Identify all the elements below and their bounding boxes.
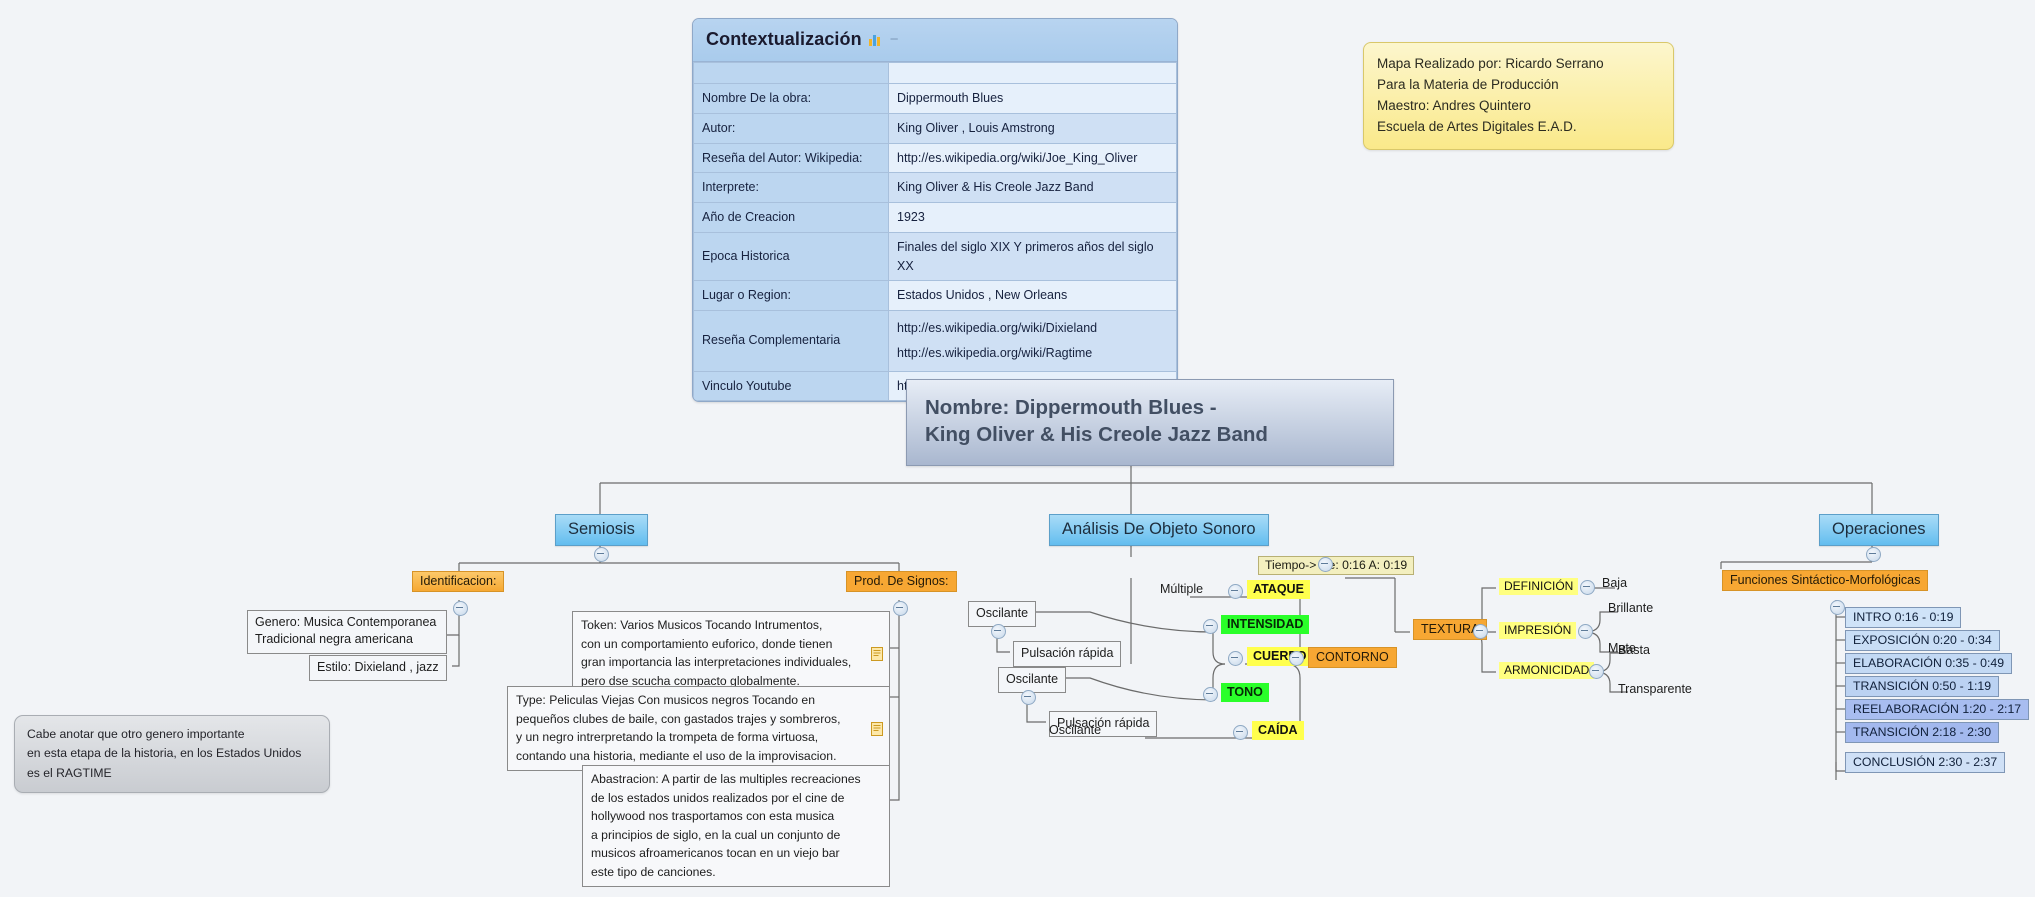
collapse-icon-caida[interactable] xyxy=(1233,725,1248,740)
node-token-line-2: con un comportamiento euforico, donde ti… xyxy=(581,635,881,654)
node-tono[interactable]: TONO xyxy=(1221,683,1269,702)
node-abstraccion-line-3: hollywood nos trasportamos con esta musi… xyxy=(591,807,881,826)
node-caida-oscilante[interactable]: Oscilante xyxy=(1049,723,1101,737)
node-multiple[interactable]: Múltiple xyxy=(1160,582,1203,596)
branch-operaciones[interactable]: Operaciones xyxy=(1819,514,1939,546)
node-multiple-label: Múltiple xyxy=(1160,582,1203,596)
table-row: Nombre De la obra: Dippermouth Blues xyxy=(694,84,1177,114)
node-genero-line-1: Genero: Musica Contemporanea xyxy=(255,614,439,631)
callout-line-3: es el RAGTIME xyxy=(27,764,317,783)
central-node[interactable]: Nombre: Dippermouth Blues - King Oliver … xyxy=(906,379,1394,466)
table-cell-key: Reseña del Autor: Wikipedia: xyxy=(694,143,889,173)
branch-analisis-label: Análisis De Objeto Sonoro xyxy=(1062,520,1256,538)
table-row: Lugar o Region: Estados Unidos , New Orl… xyxy=(694,281,1177,311)
collapse-icon-operaciones[interactable] xyxy=(1866,547,1881,562)
node-abstraccion[interactable]: Abastracion: A partir de las multiples r… xyxy=(582,765,890,887)
timeline-item-label: EXPOSICIÓN 0:20 - 0:34 xyxy=(1853,633,1992,647)
callout-line-1: Cabe anotar que otro genero importante xyxy=(27,725,317,744)
node-funciones-sintactico-morfologicas[interactable]: Funciones Sintáctico-Morfológicas xyxy=(1722,570,1928,591)
note-icon xyxy=(871,647,883,661)
node-impresion-brillante[interactable]: Brillante xyxy=(1608,601,1653,615)
table-row: Epoca Historica Finales del siglo XIX Y … xyxy=(694,232,1177,281)
author-note-line-4: Escuela de Artes Digitales E.A.D. xyxy=(1377,117,1660,138)
table-cell-value: Finales del siglo XIX Y primeros años de… xyxy=(889,232,1177,281)
node-impresion[interactable]: IMPRESIÓN xyxy=(1499,622,1576,639)
node-intensidad-oscilante-label: Oscilante xyxy=(976,606,1028,620)
central-node-line-2: King Oliver & His Creole Jazz Band xyxy=(925,421,1375,448)
node-tono-label: TONO xyxy=(1227,685,1263,699)
table-cell-value: King Oliver , Louis Amstrong xyxy=(889,113,1177,143)
timeline-item-intro[interactable]: INTRO 0:16 - 0:19 xyxy=(1845,607,1961,628)
timeline-item-reelaboracion[interactable]: REELABORACIÓN 1:20 - 2:17 xyxy=(1845,699,2029,720)
node-armonicidad-label: ARMONICIDAD xyxy=(1504,663,1589,677)
table-cell-value xyxy=(889,63,1177,84)
timeline-item-conclusion[interactable]: CONCLUSIÓN 2:30 - 2:37 xyxy=(1845,752,2005,773)
node-definicion-baja[interactable]: Baja xyxy=(1602,576,1627,590)
node-armonicidad-basta-label: Basta xyxy=(1618,643,1650,657)
callout-ragtime: Cabe anotar que otro genero importante e… xyxy=(14,715,330,793)
collapse-icon-cuerpo[interactable] xyxy=(1228,651,1243,666)
node-ataque[interactable]: ATAQUE xyxy=(1247,580,1310,599)
table-cell-value-link[interactable]: http://es.wikipedia.org/wiki/Ragtime xyxy=(897,341,1168,366)
collapse-icon-funciones[interactable] xyxy=(1830,600,1845,615)
table-cell-value: 1923 xyxy=(889,203,1177,233)
node-identificacion-label: Identificacion: xyxy=(420,574,496,588)
node-genero-line-2: Tradicional negra americana xyxy=(255,631,439,648)
node-intensidad[interactable]: INTENSIDAD xyxy=(1221,615,1309,634)
callout-line-2: en esta etapa de la historia, en los Est… xyxy=(27,744,317,763)
table-cell-key: Nombre De la obra: xyxy=(694,84,889,114)
collapse-icon-tono[interactable] xyxy=(1203,687,1218,702)
node-token-line-3: gran importancia las interpretaciones in… xyxy=(581,653,881,672)
node-abstraccion-line-1: Abastracion: A partir de las multiples r… xyxy=(591,770,881,789)
table-row: Autor: King Oliver , Louis Amstrong xyxy=(694,113,1177,143)
node-abstraccion-line-5: musicos afroamericanos tocan en un viejo… xyxy=(591,844,881,863)
node-definicion-baja-label: Baja xyxy=(1602,576,1627,590)
table-cell-value-link[interactable]: http://es.wikipedia.org/wiki/Joe_King_Ol… xyxy=(889,143,1177,173)
node-type-line-2: pequeños clubes de baile, con gastados t… xyxy=(516,710,881,729)
table-cell-key: Vinculo Youtube xyxy=(694,371,889,401)
contextualizacion-title-text: Contextualización xyxy=(706,29,862,50)
branch-semiosis[interactable]: Semiosis xyxy=(555,514,648,546)
contextualizacion-table[interactable]: Contextualización − Nombre De la obra: D… xyxy=(692,18,1178,402)
node-type-line-1: Type: Peliculas Viejas Con musicos negro… xyxy=(516,691,881,710)
table-cell-value: Dippermouth Blues xyxy=(889,84,1177,114)
timeline-item-elaboracion[interactable]: ELABORACIÓN 0:35 - 0:49 xyxy=(1845,653,2012,674)
author-note-line-3: Maestro: Andres Quintero xyxy=(1377,96,1660,117)
collapse-icon-tono-oscilante[interactable] xyxy=(1021,690,1036,705)
table-cell-key: Interprete: xyxy=(694,173,889,203)
timeline-item-label: INTRO 0:16 - 0:19 xyxy=(1853,610,1953,624)
node-estilo[interactable]: Estilo: Dixieland , jazz xyxy=(309,655,447,681)
timeline-item-label: REELABORACIÓN 1:20 - 2:17 xyxy=(1853,702,2021,716)
collapse-icon-armonicidad[interactable] xyxy=(1589,664,1604,679)
central-node-line-1: Nombre: Dippermouth Blues - xyxy=(925,394,1375,421)
node-intensidad-pulsacion[interactable]: Pulsación rápida xyxy=(1013,641,1121,667)
node-armonicidad-basta[interactable]: Basta xyxy=(1618,643,1650,657)
contextualizacion-rows: Nombre De la obra: Dippermouth Blues Aut… xyxy=(693,62,1177,401)
timeline-item-label: TRANSICIÓN 2:18 - 2:30 xyxy=(1853,725,1991,739)
node-intensidad-pulsacion-label: Pulsación rápida xyxy=(1021,646,1113,660)
table-cell-key: Epoca Historica xyxy=(694,232,889,281)
node-ataque-label: ATAQUE xyxy=(1253,582,1304,596)
node-tiempo[interactable]: Tiempo-> De: 0:16 A: 0:19 xyxy=(1258,556,1414,575)
timeline-item-label: CONCLUSIÓN 2:30 - 2:37 xyxy=(1853,755,1997,769)
node-definicion[interactable]: DEFINICIÓN xyxy=(1499,578,1578,595)
table-cell-value: Estados Unidos , New Orleans xyxy=(889,281,1177,311)
node-token[interactable]: Token: Varios Musicos Tocando Intrumento… xyxy=(572,611,890,696)
node-tono-oscilante[interactable]: Oscilante xyxy=(998,667,1066,693)
chart-icon xyxy=(869,33,883,46)
node-funciones-label: Funciones Sintáctico-Morfológicas xyxy=(1730,573,1920,587)
node-armonicidad-transparente[interactable]: Transparente xyxy=(1618,682,1692,696)
node-token-line-1: Token: Varios Musicos Tocando Intrumento… xyxy=(581,616,881,635)
table-row: Reseña del Autor: Wikipedia: http://es.w… xyxy=(694,143,1177,173)
timeline-item-label: TRANSICIÓN 0:50 - 1:19 xyxy=(1853,679,1991,693)
collapse-icon-ataque[interactable] xyxy=(1228,584,1243,599)
branch-analisis[interactable]: Análisis De Objeto Sonoro xyxy=(1049,514,1269,546)
node-identificacion[interactable]: Identificacion: xyxy=(412,571,504,592)
table-row: Año de Creacion 1923 xyxy=(694,203,1177,233)
collapse-icon[interactable]: − xyxy=(890,31,899,48)
node-caida-oscilante-label: Oscilante xyxy=(1049,723,1101,737)
node-caida[interactable]: CAÍDA xyxy=(1252,721,1304,740)
node-contorno[interactable]: CONTORNO xyxy=(1308,647,1397,668)
timeline-item-transicion-1[interactable]: TRANSICIÓN 0:50 - 1:19 xyxy=(1845,676,1999,697)
collapse-icon-contorno[interactable] xyxy=(1289,651,1304,666)
node-abstraccion-line-6: este tipo de canciones. xyxy=(591,863,881,882)
node-tiempo-label: Tiempo-> De: 0:16 A: 0:19 xyxy=(1265,558,1407,572)
timeline-item-transicion-2[interactable]: TRANSICIÓN 2:18 - 2:30 xyxy=(1845,722,1999,743)
branch-operaciones-label: Operaciones xyxy=(1832,520,1926,538)
node-abstraccion-line-4: a principios de siglo, en la cual un con… xyxy=(591,826,881,845)
table-cell-key: Autor: xyxy=(694,113,889,143)
table-cell-key: Lugar o Region: xyxy=(694,281,889,311)
node-impresion-label: IMPRESIÓN xyxy=(1504,623,1571,637)
table-cell-key: Año de Creacion xyxy=(694,203,889,233)
author-note: Mapa Realizado por: Ricardo Serrano Para… xyxy=(1363,42,1674,150)
contextualizacion-title: Contextualización − xyxy=(693,19,1177,62)
node-type[interactable]: Type: Peliculas Viejas Con musicos negro… xyxy=(507,686,890,771)
author-note-line-1: Mapa Realizado por: Ricardo Serrano xyxy=(1377,54,1660,75)
node-armonicidad[interactable]: ARMONICIDAD xyxy=(1499,662,1594,679)
node-tono-oscilante-label: Oscilante xyxy=(1006,672,1058,686)
table-row: Reseña Complementaria http://es.wikipedi… xyxy=(694,311,1177,372)
node-prod-de-signos[interactable]: Prod. De Signos: xyxy=(846,571,957,592)
table-row: Interprete: King Oliver & His Creole Jaz… xyxy=(694,173,1177,203)
table-cell-key: Reseña Complementaria xyxy=(694,311,889,372)
node-impresion-brillante-label: Brillante xyxy=(1608,601,1653,615)
node-type-line-4: contando una historia, mediante el uso d… xyxy=(516,747,881,766)
timeline-item-exposicion[interactable]: EXPOSICIÓN 0:20 - 0:34 xyxy=(1845,630,2000,651)
node-estilo-label: Estilo: Dixieland , jazz xyxy=(317,660,439,674)
node-textura-label: TEXTURA xyxy=(1421,622,1479,636)
collapse-icon-intensidad[interactable] xyxy=(1203,619,1218,634)
timeline-item-label: ELABORACIÓN 0:35 - 0:49 xyxy=(1853,656,2004,670)
collapse-icon-intensidad-oscilante[interactable] xyxy=(991,624,1006,639)
collapse-icon-semiosis[interactable] xyxy=(594,547,609,562)
collapse-icon-tiempo[interactable] xyxy=(1318,557,1333,572)
collapse-icon-impresion[interactable] xyxy=(1578,624,1593,639)
note-icon xyxy=(871,722,883,736)
node-caida-label: CAÍDA xyxy=(1258,723,1298,737)
node-intensidad-label: INTENSIDAD xyxy=(1227,617,1303,631)
node-definicion-label: DEFINICIÓN xyxy=(1504,579,1573,593)
author-note-line-2: Para la Materia de Producción xyxy=(1377,75,1660,96)
collapse-icon-definicion[interactable] xyxy=(1580,580,1595,595)
table-cell-value-link[interactable]: http://es.wikipedia.org/wiki/Dixieland xyxy=(897,316,1168,341)
branch-semiosis-label: Semiosis xyxy=(568,520,635,538)
node-armonicidad-transparente-label: Transparente xyxy=(1618,682,1692,696)
collapse-icon-textura[interactable] xyxy=(1473,624,1488,639)
collapse-icon-prod-de-signos[interactable] xyxy=(893,601,908,616)
node-abstraccion-line-2: de los estados unidos realizados por el … xyxy=(591,789,881,808)
table-cell-key xyxy=(694,63,889,84)
table-cell-value: King Oliver & His Creole Jazz Band xyxy=(889,173,1177,203)
node-type-line-3: y un negro intrerpretando la trompeta de… xyxy=(516,728,881,747)
node-genero[interactable]: Genero: Musica Contemporanea Tradicional… xyxy=(247,610,447,654)
table-cell-value-multi: http://es.wikipedia.org/wiki/Dixieland h… xyxy=(889,311,1177,372)
node-prod-de-signos-label: Prod. De Signos: xyxy=(854,574,949,588)
node-intensidad-oscilante[interactable]: Oscilante xyxy=(968,601,1036,627)
node-contorno-label: CONTORNO xyxy=(1316,650,1389,664)
collapse-icon-identificacion[interactable] xyxy=(453,601,468,616)
table-row xyxy=(694,63,1177,84)
